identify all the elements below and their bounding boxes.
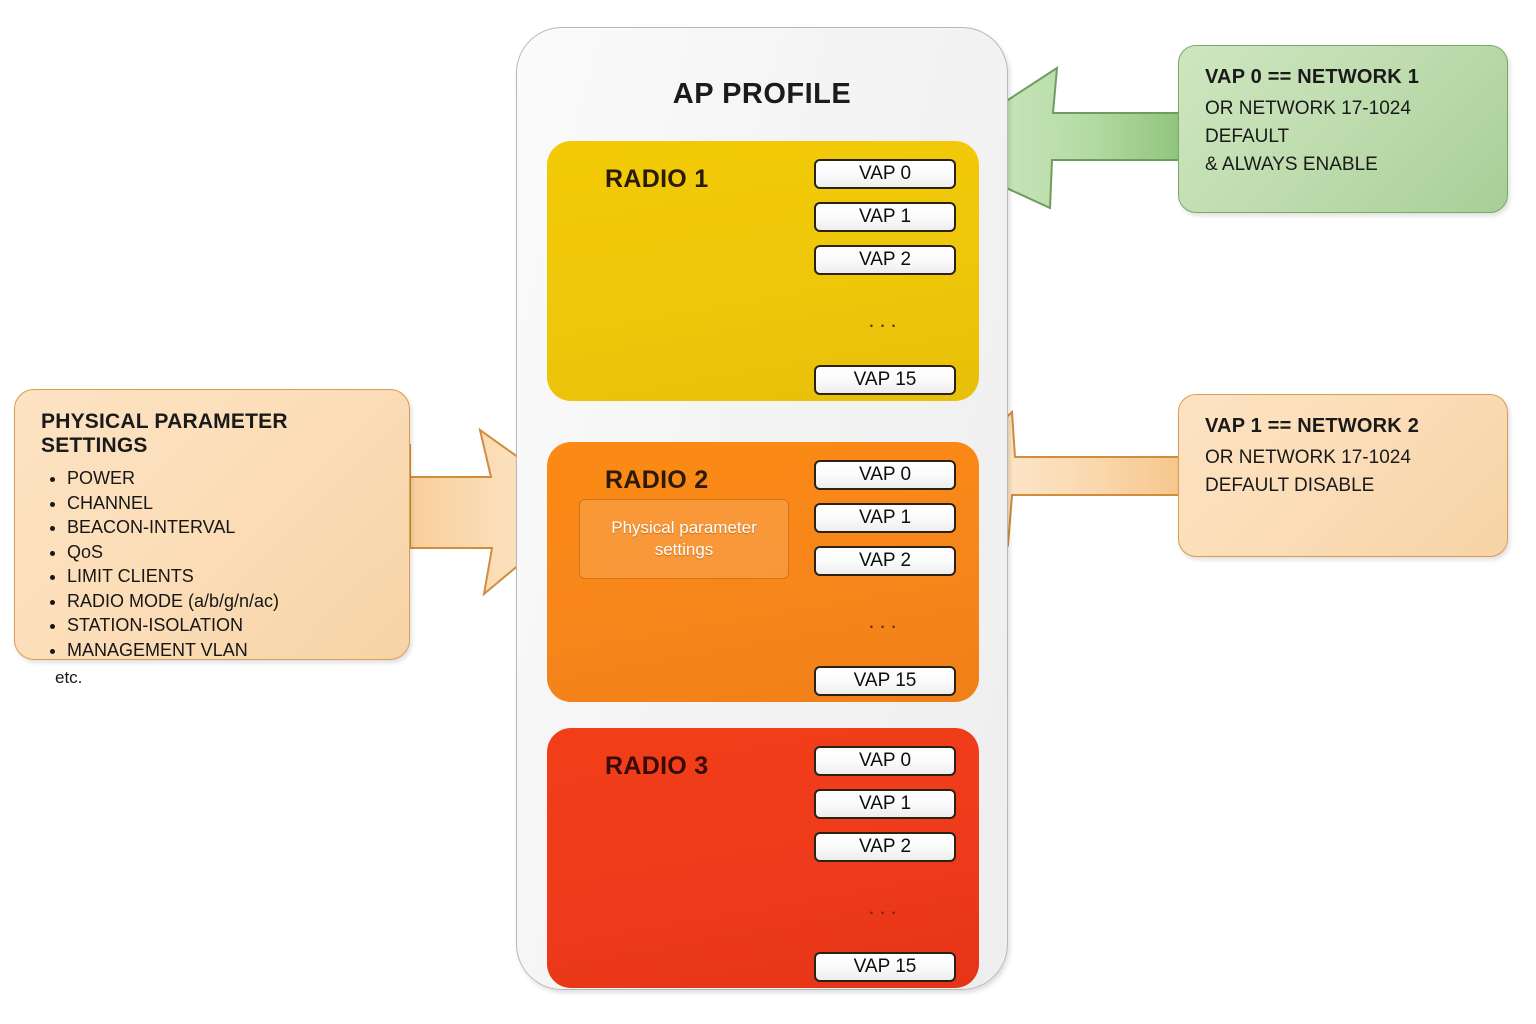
vap-box-r2-2[interactable]: VAP 2 xyxy=(814,546,956,576)
callout-green-line-3: & ALWAYS ENABLE xyxy=(1205,151,1487,179)
page-title: AP PROFILE xyxy=(517,78,1007,111)
vap-box-r3-1[interactable]: VAP 1 xyxy=(814,789,956,819)
radio-2-label: RADIO 2 xyxy=(605,466,709,495)
list-item: RADIO MODE (a/b/g/n/ac) xyxy=(67,589,391,614)
list-item: POWER xyxy=(67,466,391,491)
radio-block-2: RADIO 2 Physical parameter settings VAP … xyxy=(547,442,979,702)
list-item: CHANNEL xyxy=(67,491,391,516)
callout-orange-right-line-2: DEFAULT DISABLE xyxy=(1205,472,1487,500)
vap-gap2-r1 xyxy=(814,348,956,365)
radio-2-physical-settings-text: Physical parameter settings xyxy=(580,517,788,561)
vap-box-r2-15[interactable]: VAP 15 xyxy=(814,666,956,696)
vap-gap-r2 xyxy=(814,589,956,606)
vap-box-r1-1[interactable]: VAP 1 xyxy=(814,202,956,232)
callout-green-line-1: OR NETWORK 17-1024 xyxy=(1205,95,1487,123)
callout-orange-right-line-1: OR NETWORK 17-1024 xyxy=(1205,444,1487,472)
physical-settings-footer: etc. xyxy=(55,668,391,688)
radio-2-physical-settings-box: Physical parameter settings xyxy=(579,499,789,579)
list-item: LIMIT CLIENTS xyxy=(67,564,391,589)
vap-box-r1-2[interactable]: VAP 2 xyxy=(814,245,956,275)
vap-gap-r1 xyxy=(814,288,956,305)
vap-box-r3-0[interactable]: VAP 0 xyxy=(814,746,956,776)
vap-box-r3-2[interactable]: VAP 2 xyxy=(814,832,956,862)
physical-settings-title: PHYSICAL PARAMETER SETTINGS xyxy=(41,410,391,458)
list-item: MANAGEMENT VLAN xyxy=(67,638,391,663)
vap-box-r1-0[interactable]: VAP 0 xyxy=(814,159,956,189)
callout-orange-right-title: VAP 1 == NETWORK 2 xyxy=(1205,415,1487,438)
physical-settings-list: POWER CHANNEL BEACON-INTERVAL QoS LIMIT … xyxy=(67,466,391,662)
ap-profile-container: AP PROFILE RADIO 1 VAP 0 VAP 1 VAP 2 ...… xyxy=(516,27,1008,990)
radio-1-vap-list: VAP 0 VAP 1 VAP 2 ... VAP 15 xyxy=(814,159,956,408)
vap-gap2-r2 xyxy=(814,649,956,666)
vap-gap-r3 xyxy=(814,875,956,892)
vap-ellipsis-r2: ... xyxy=(814,606,956,636)
list-item: STATION-ISOLATION xyxy=(67,613,391,638)
radio-3-vap-list: VAP 0 VAP 1 VAP 2 ... VAP 15 xyxy=(814,746,956,995)
callout-vap1-network2: VAP 1 == NETWORK 2 OR NETWORK 17-1024 DE… xyxy=(1178,394,1508,557)
vap-box-r2-1[interactable]: VAP 1 xyxy=(814,503,956,533)
radio-2-vap-list: VAP 0 VAP 1 VAP 2 ... VAP 15 xyxy=(814,460,956,709)
vap-ellipsis-r3: ... xyxy=(814,892,956,922)
radio-1-label: RADIO 1 xyxy=(605,165,709,194)
callout-green-line-2: DEFAULT xyxy=(1205,123,1487,151)
callout-physical-parameter-settings: PHYSICAL PARAMETER SETTINGS POWER CHANNE… xyxy=(14,389,410,660)
vap-box-r1-15[interactable]: VAP 15 xyxy=(814,365,956,395)
vap-ellipsis-r1: ... xyxy=(814,305,956,335)
vap-box-r2-0[interactable]: VAP 0 xyxy=(814,460,956,490)
callout-green-title: VAP 0 == NETWORK 1 xyxy=(1205,66,1487,89)
list-item: QoS xyxy=(67,540,391,565)
radio-block-3: RADIO 3 VAP 0 VAP 1 VAP 2 ... VAP 15 xyxy=(547,728,979,988)
callout-vap0-network1: VAP 0 == NETWORK 1 OR NETWORK 17-1024 DE… xyxy=(1178,45,1508,213)
vap-box-r3-15[interactable]: VAP 15 xyxy=(814,952,956,982)
vap-gap2-r3 xyxy=(814,935,956,952)
radio-3-label: RADIO 3 xyxy=(605,752,709,781)
radio-block-1: RADIO 1 VAP 0 VAP 1 VAP 2 ... VAP 15 xyxy=(547,141,979,401)
list-item: BEACON-INTERVAL xyxy=(67,515,391,540)
